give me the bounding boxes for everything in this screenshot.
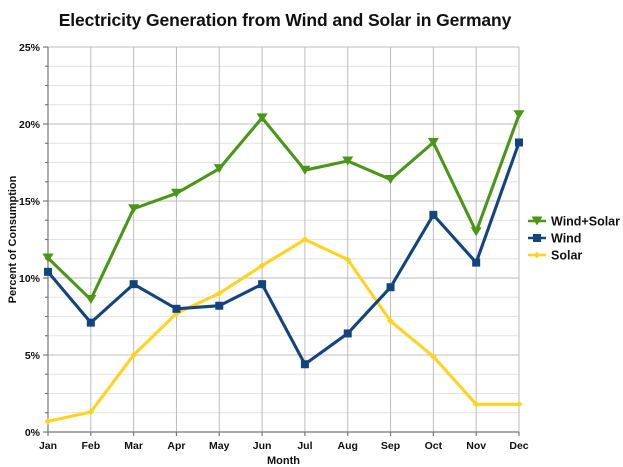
y-axis-tick-label: 15%	[19, 196, 41, 208]
x-axis-tick-label: Mar	[124, 440, 143, 452]
x-axis-tick-label: Jun	[253, 440, 272, 452]
data-point-wind	[344, 329, 352, 337]
data-point-solar	[45, 418, 52, 425]
data-point-wind	[472, 259, 480, 267]
data-point-wind	[515, 138, 523, 146]
y-axis-title: Percent of Consumption	[7, 175, 19, 303]
legend-item[interactable]: Wind+Solar	[528, 215, 620, 229]
x-axis-tick-label: Dec	[509, 440, 528, 452]
x-axis-tick-label: Jan	[39, 440, 57, 452]
x-axis-tick-label: Feb	[81, 440, 100, 452]
y-axis-tick-label: 5%	[25, 350, 41, 362]
x-axis-tick-label: Nov	[466, 440, 486, 452]
data-point-wind	[130, 280, 138, 288]
legend-swatch-marker	[533, 234, 541, 242]
x-axis-tick-label: Sep	[381, 440, 400, 452]
legend-item[interactable]: Solar	[528, 249, 582, 263]
data-point-wind	[215, 302, 223, 310]
data-point-wind-solar	[471, 227, 482, 236]
legend-label: Wind	[551, 232, 581, 246]
x-axis-tick-label: May	[209, 440, 230, 452]
data-point-wind	[387, 283, 395, 291]
y-axis-tick-label: 0%	[25, 427, 41, 439]
chart-container: Electricity Generation from Wind and Sol…	[0, 0, 623, 467]
y-axis-tick-label: 10%	[19, 273, 41, 285]
legend-swatch-marker	[534, 252, 541, 259]
x-axis-tick-label: Jul	[297, 440, 312, 452]
legend-label: Solar	[551, 249, 582, 263]
x-axis-tick-label: Apr	[167, 440, 185, 452]
legend-label: Wind+Solar	[551, 215, 620, 229]
x-axis-tick-label: Aug	[338, 440, 358, 452]
x-axis-tick-label: Oct	[425, 440, 443, 452]
data-point-solar	[516, 401, 523, 408]
y-axis-tick-label: 20%	[19, 119, 41, 131]
x-axis-title: Month	[267, 455, 300, 467]
data-point-wind	[172, 305, 180, 313]
series-line-wind-solar	[48, 115, 519, 300]
data-point-wind-solar	[85, 295, 96, 304]
data-point-wind	[258, 280, 266, 288]
chart-plot-area: 0%5%10%15%20%25%JanFebMarAprMayJunJulAug…	[0, 0, 623, 467]
data-point-wind	[429, 211, 437, 219]
data-point-wind	[301, 360, 309, 368]
legend-item[interactable]: Wind	[528, 232, 581, 246]
data-point-wind-solar	[514, 110, 525, 119]
data-point-wind	[44, 268, 52, 276]
y-axis-tick-label: 25%	[19, 42, 41, 54]
data-point-wind	[87, 319, 95, 327]
